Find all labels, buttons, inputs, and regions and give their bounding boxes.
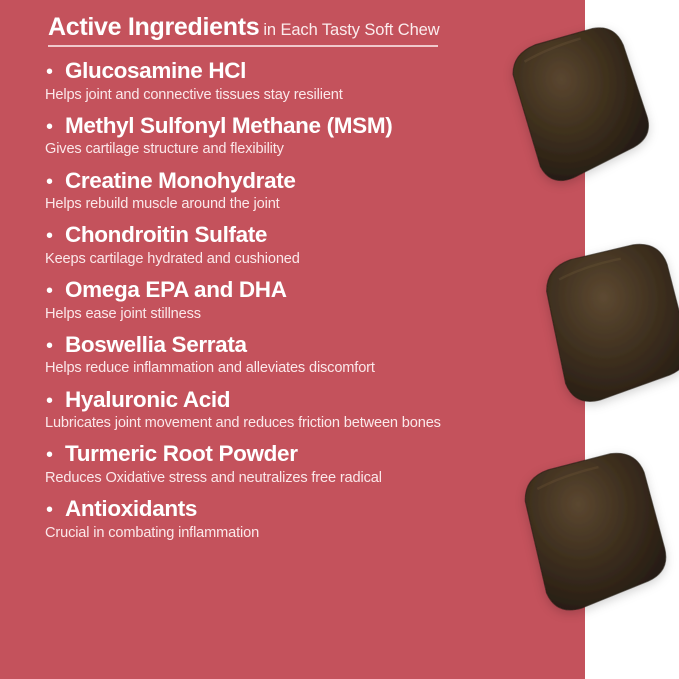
ingredient-item: •Turmeric Root PowderReduces Oxidative s…	[0, 441, 585, 487]
bullet-icon: •	[46, 281, 65, 301]
ingredient-name: Hyaluronic Acid	[65, 387, 230, 414]
ingredient-description: Helps ease joint stillness	[45, 305, 585, 323]
soft-chew-middle	[528, 242, 679, 408]
ingredient-heading: •Boswellia Serrata	[0, 332, 585, 359]
ingredient-heading: •Antioxidants	[0, 496, 585, 523]
bullet-icon: •	[46, 445, 65, 465]
ingredient-heading: •Chondroitin Sulfate	[0, 222, 585, 249]
ingredient-item: •Omega EPA and DHAHelps ease joint still…	[0, 277, 585, 323]
ingredient-description: Lubricates joint movement and reduces fr…	[45, 414, 585, 432]
soft-chew-bottom	[506, 452, 679, 616]
header-title-text: Active Ingredients	[48, 13, 259, 41]
ingredient-description: Helps reduce inflammation and alleviates…	[45, 359, 585, 377]
ingredient-description: Keeps cartilage hydrated and cushioned	[45, 250, 585, 268]
bullet-icon: •	[46, 500, 65, 520]
ingredient-name: Glucosamine HCl	[65, 58, 246, 85]
bullet-icon: •	[46, 391, 65, 411]
ingredient-description: Reduces Oxidative stress and neutralizes…	[45, 469, 585, 487]
ingredient-item: •Boswellia SerrataHelps reduce inflammat…	[0, 332, 585, 378]
bullet-icon: •	[46, 117, 65, 137]
page-title: Active Ingredientsin Each Tasty Soft Che…	[48, 14, 468, 40]
ingredient-description: Crucial in combating inflammation	[45, 524, 585, 542]
ingredient-name: Turmeric Root Powder	[65, 441, 298, 468]
ingredient-name: Chondroitin Sulfate	[65, 222, 267, 249]
ingredient-name: Omega EPA and DHA	[65, 277, 287, 304]
bullet-icon: •	[46, 336, 65, 356]
ingredient-heading: •Omega EPA and DHA	[0, 277, 585, 304]
soft-chew-top	[492, 27, 662, 187]
ingredient-name: Creatine Monohydrate	[65, 168, 296, 195]
ingredient-item: •Hyaluronic AcidLubricates joint movemen…	[0, 387, 585, 433]
header-underline	[48, 45, 438, 47]
ingredients-infographic: Active Ingredientsin Each Tasty Soft Che…	[0, 0, 679, 679]
header-subtitle-text: in Each Tasty Soft Chew	[263, 21, 439, 39]
bullet-icon: •	[46, 62, 65, 82]
ingredient-item: •Chondroitin SulfateKeeps cartilage hydr…	[0, 222, 585, 268]
ingredient-name: Antioxidants	[65, 496, 197, 523]
bullet-icon: •	[46, 226, 65, 246]
ingredient-name: Methyl Sulfonyl Methane (MSM)	[65, 113, 392, 140]
ingredient-heading: •Turmeric Root Powder	[0, 441, 585, 468]
ingredient-description: Helps rebuild muscle around the joint	[45, 195, 585, 213]
ingredient-heading: •Hyaluronic Acid	[0, 387, 585, 414]
bullet-icon: •	[46, 172, 65, 192]
ingredient-item: •AntioxidantsCrucial in combating inflam…	[0, 496, 585, 542]
ingredient-name: Boswellia Serrata	[65, 332, 247, 359]
